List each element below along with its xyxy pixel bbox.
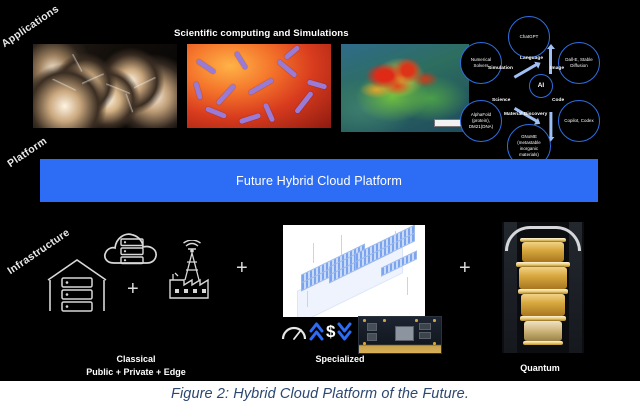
performance-cost-indicators: $ bbox=[281, 318, 361, 344]
spoke-arrow-material-discovery bbox=[549, 112, 552, 138]
plus-sign-classical: + bbox=[127, 279, 139, 299]
figure-hybrid-cloud-platform: Applications Platform Infrastructure Sci… bbox=[0, 0, 640, 407]
ai-node-image[interactable]: Dall-E, Stable Diffusion bbox=[558, 42, 600, 84]
tier-label-applications: Applications bbox=[0, 3, 61, 50]
ai-spoke-label-material-discovery: Material Discovery bbox=[504, 112, 547, 117]
gauge-icon bbox=[281, 321, 307, 341]
figure-caption-text: Figure 2: Hybrid Cloud Platform of the F… bbox=[171, 386, 469, 402]
isometric-datacenter-image bbox=[283, 225, 425, 317]
platform-banner-label: Future Hybrid Cloud Platform bbox=[236, 174, 402, 188]
ai-spoke-label-image: Image bbox=[550, 66, 564, 71]
cloud-servers-icon bbox=[101, 226, 163, 270]
ai-node-center[interactable]: AI bbox=[529, 74, 553, 98]
dollar-icon: $ bbox=[326, 323, 335, 340]
ai-node-science[interactable]: AlphaFold (protein), DM21(DNA) bbox=[460, 100, 502, 142]
ai-spoke-label-simulation: Simulation bbox=[488, 66, 513, 71]
antenna-tower-icon bbox=[166, 240, 222, 302]
bacteria-micrograph-image bbox=[187, 44, 331, 128]
accelerator-card-image bbox=[358, 316, 442, 354]
applications-section-heading: Scientific computing and Simulations bbox=[174, 28, 349, 39]
quantum-cryostat-image bbox=[502, 222, 584, 353]
chevrons-down-icon bbox=[337, 320, 352, 342]
figure-caption: Figure 2: Hybrid Cloud Platform of the F… bbox=[0, 381, 640, 407]
plus-sign-specialized: + bbox=[236, 258, 248, 278]
ai-spoke-label-code: Code bbox=[552, 98, 564, 103]
factory-icon bbox=[170, 273, 208, 298]
ai-spoke-label-science: Science bbox=[492, 98, 510, 103]
column-caption-quantum: Quantum bbox=[470, 362, 610, 375]
column-caption-specialized: Specialized bbox=[270, 353, 410, 366]
ai-node-code[interactable]: Copilot, Codex bbox=[558, 100, 600, 142]
datacenter-building-icon bbox=[45, 256, 109, 314]
ai-node-language[interactable]: ChatGPT bbox=[508, 16, 550, 58]
plus-sign-quantum: + bbox=[459, 258, 471, 278]
figure-dark-panel: Applications Platform Infrastructure Sci… bbox=[0, 0, 640, 381]
molecular-structure-image bbox=[33, 44, 177, 128]
ai-node-simulation[interactable]: Numerical Solvers bbox=[460, 42, 502, 84]
platform-banner[interactable]: Future Hybrid Cloud Platform bbox=[40, 159, 598, 202]
ai-spoke-label-language: Language bbox=[520, 56, 543, 61]
column-caption-classical: Classical Public + Private + Edge bbox=[36, 353, 236, 378]
chevrons-up-icon bbox=[309, 320, 324, 342]
ai-capability-hub-diagram: ChatGPT Numerical Solvers Dall-E, Stable… bbox=[448, 12, 634, 160]
